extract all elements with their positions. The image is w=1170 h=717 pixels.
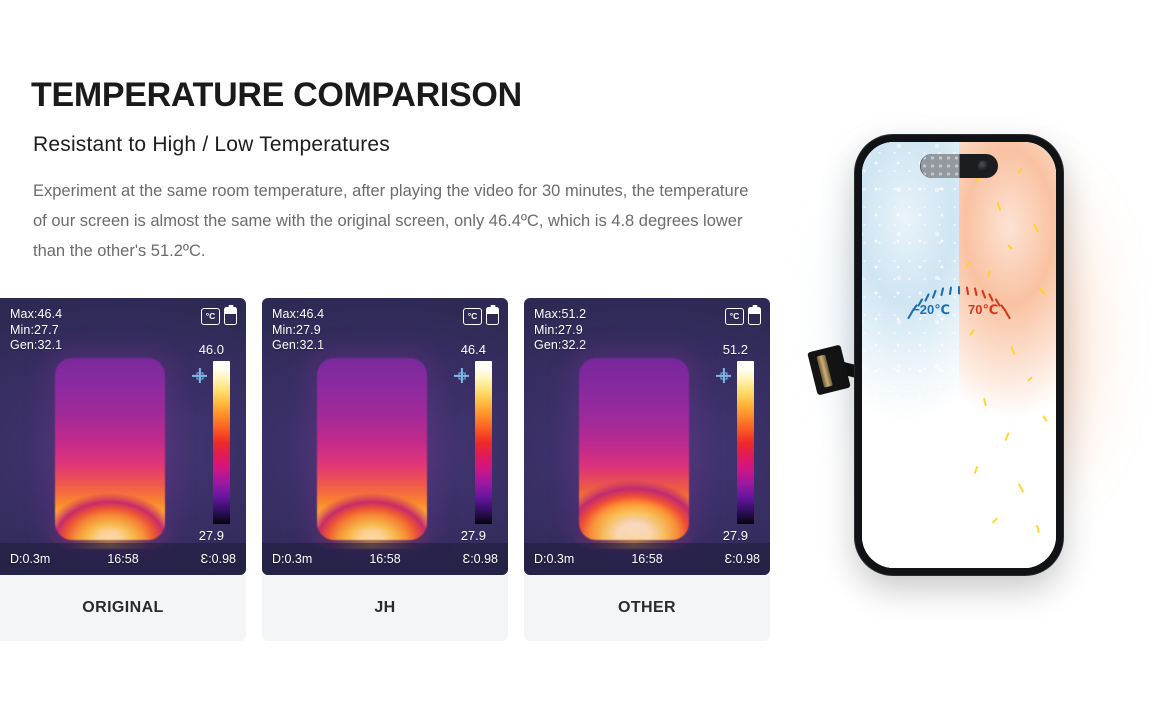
scale-max-value: 46.4 [418,342,492,357]
phone-body: −20℃ 70℃ [855,135,1063,575]
thermal-caption: ORIGINAL [0,575,246,641]
time-label: 16:58 [631,552,662,566]
phone-illustration: −20℃ 70℃ [790,110,1150,610]
phone-screen: −20℃ 70℃ [862,142,1056,568]
distance-label: D:0.3m [272,552,312,566]
temperature-labels: −20℃ 70℃ [869,302,1049,318]
scale-min-value: 27.9 [156,528,230,543]
min-temp-label: Min:27.9 [534,323,586,339]
time-label: 16:58 [369,552,400,566]
thermal-caption: JH [262,575,508,641]
color-scale: 46.4 27.9 [418,342,492,543]
thermal-comparison-row: Max:46.4 Min:27.7 Gen:32.1 °C 46.0 [0,298,770,641]
thermal-card-other: Max:51.2 Min:27.9 Gen:32.2 °C 51.2 [524,298,770,641]
scale-min-value: 27.9 [418,528,492,543]
dynamic-island-frost [920,154,959,178]
battery-icon [486,307,499,325]
color-scale: 51.2 27.9 [680,342,754,543]
thermal-phone-blob [55,358,165,540]
gen-temp-label: Gen:32.2 [534,338,586,354]
thermal-header-icons: °C [725,307,761,325]
thermal-image-jh: Max:46.4 Min:27.9 Gen:32.1 °C 46.4 [262,298,508,575]
gen-temp-label: Gen:32.1 [10,338,62,354]
celsius-icon: °C [725,308,744,325]
gen-temp-label: Gen:32.1 [272,338,324,354]
celsius-icon: °C [463,308,482,325]
scale-gradient-bar [213,361,230,524]
thermal-image-original: Max:46.4 Min:27.7 Gen:32.1 °C 46.0 [0,298,246,575]
battery-icon [748,307,761,325]
celsius-icon: °C [201,308,220,325]
max-temp-label: Max:46.4 [272,307,324,323]
cold-half [862,142,959,568]
thermal-readout: Max:51.2 Min:27.9 Gen:32.2 [534,307,586,354]
color-scale: 46.0 27.9 [156,342,230,543]
scale-max-value: 51.2 [680,342,754,357]
distance-label: D:0.3m [10,552,50,566]
scale-cursor-icon [716,368,731,383]
scale-gradient-bar [475,361,492,524]
scale-cursor-icon [454,368,469,383]
battery-icon [224,307,237,325]
scale-cursor-icon [192,368,207,383]
thermal-readout: Max:46.4 Min:27.9 Gen:32.1 [272,307,324,354]
hot-half [959,142,1056,568]
cold-temp-label: −20℃ [869,302,959,318]
page-title: TEMPERATURE COMPARISON [31,76,522,115]
thermal-footer: D:0.3m 16:58 Ɛ:0.98 [262,543,508,575]
distance-label: D:0.3m [534,552,574,566]
emissivity-label: Ɛ:0.98 [725,552,760,566]
thermal-footer: D:0.3m 16:58 Ɛ:0.98 [0,543,246,575]
thermal-card-original: Max:46.4 Min:27.7 Gen:32.1 °C 46.0 [0,298,246,641]
thermal-phone-blob [579,358,689,540]
thermal-image-other: Max:51.2 Min:27.9 Gen:32.2 °C 51.2 [524,298,770,575]
page-subtitle: Resistant to High / Low Temperatures [33,133,390,157]
scale-gradient-bar [737,361,754,524]
max-temp-label: Max:46.4 [10,307,62,323]
scale-max-value: 46.0 [156,342,230,357]
min-temp-label: Min:27.9 [272,323,324,339]
hot-temp-label: 70℃ [959,302,1049,318]
min-temp-label: Min:27.7 [10,323,62,339]
thermal-header-icons: °C [201,307,237,325]
max-temp-label: Max:51.2 [534,307,586,323]
thermal-card-jh: Max:46.4 Min:27.9 Gen:32.1 °C 46.4 [262,298,508,641]
thermal-caption: OTHER [524,575,770,641]
emissivity-label: Ɛ:0.98 [463,552,498,566]
thermal-readout: Max:46.4 Min:27.7 Gen:32.1 [10,307,62,354]
thermal-footer: D:0.3m 16:58 Ɛ:0.98 [524,543,770,575]
thermal-phone-blob [317,358,427,540]
time-label: 16:58 [107,552,138,566]
thermal-header-icons: °C [463,307,499,325]
emissivity-label: Ɛ:0.98 [201,552,236,566]
description-paragraph: Experiment at the same room temperature,… [33,176,749,266]
scale-min-value: 27.9 [680,528,754,543]
temperature-gauge-icon [900,266,1018,328]
